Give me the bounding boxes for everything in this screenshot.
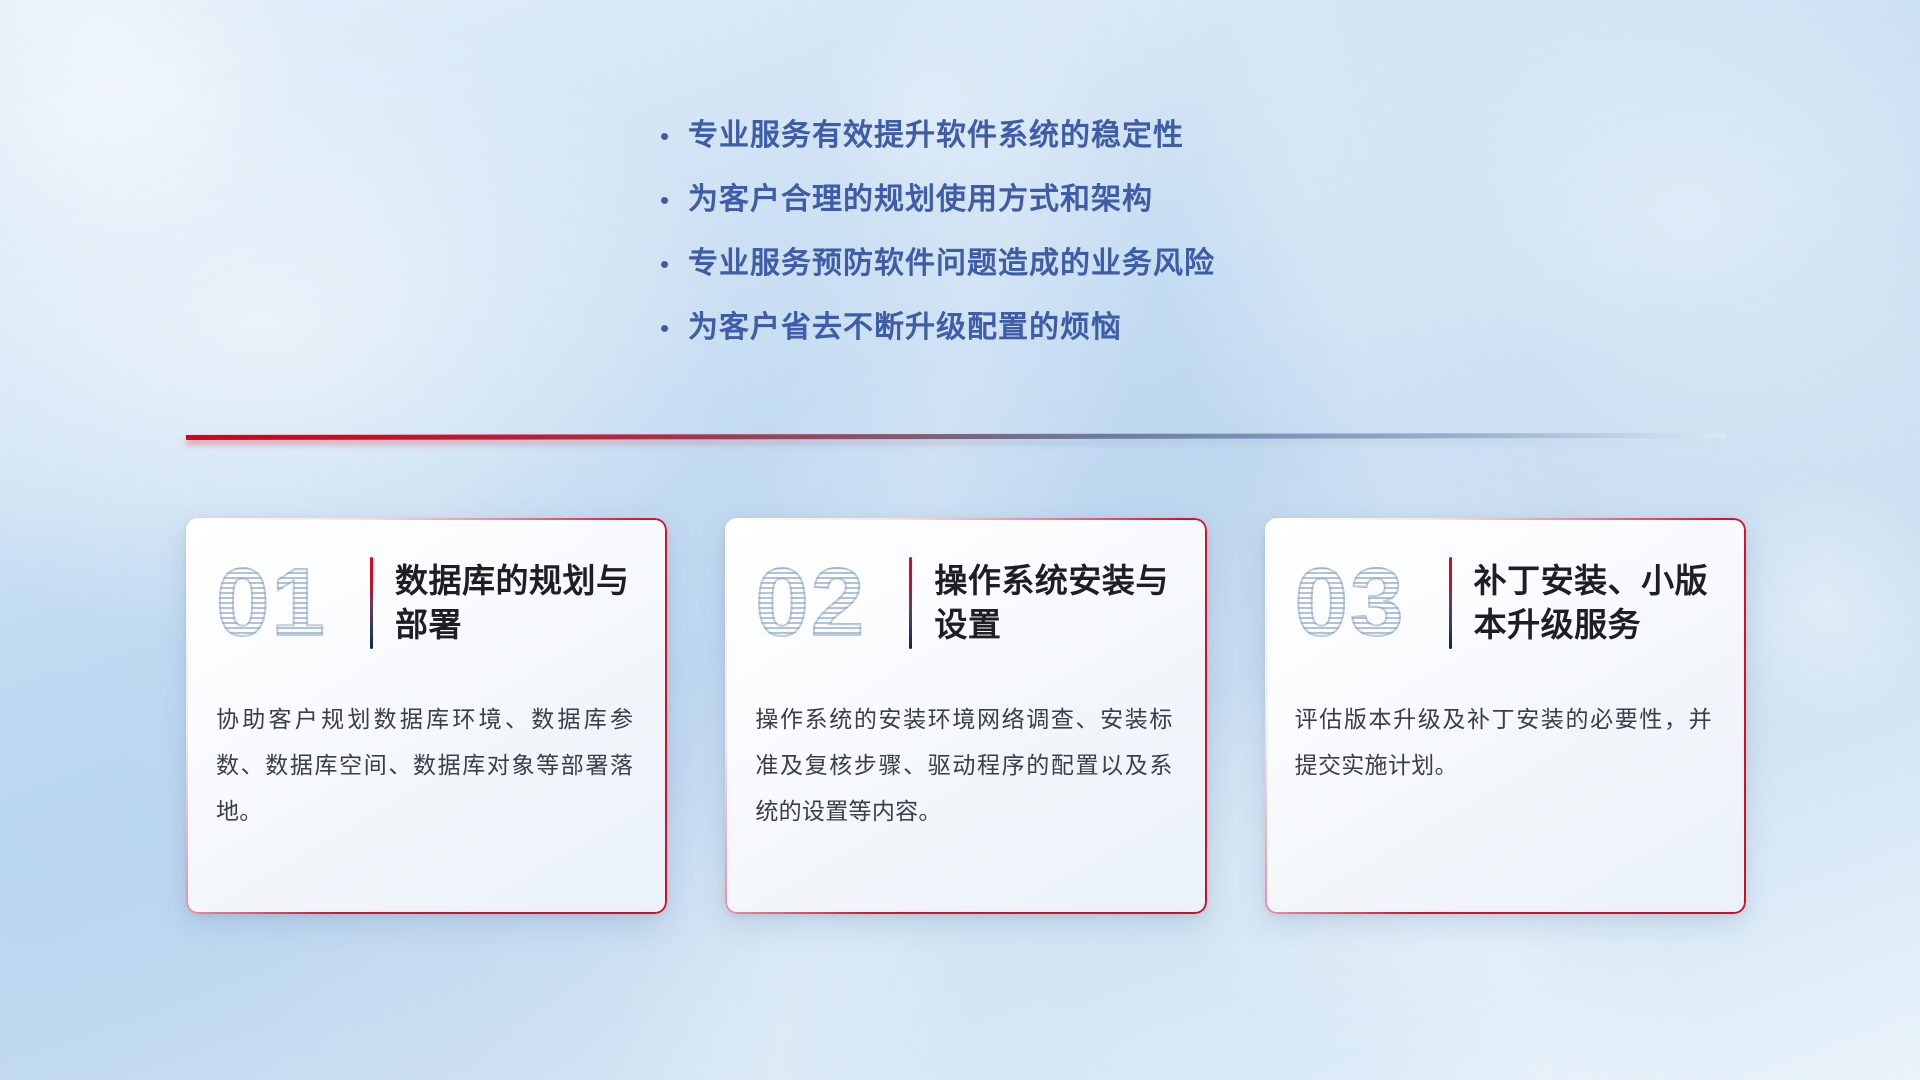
slide-canvas: • 专业服务有效提升软件系统的稳定性 • 为客户合理的规划使用方式和架构 • 专… — [0, 0, 1920, 1080]
card-title: 补丁安装、小版本升级服务 — [1474, 559, 1720, 646]
list-item: • 专业服务有效提升软件系统的稳定性 — [660, 110, 1215, 174]
list-item: • 为客户合理的规划使用方式和架构 — [660, 174, 1215, 238]
card-accent-divider — [1449, 557, 1452, 649]
card-number-watermark: 03 — [1295, 547, 1443, 659]
divider-glow — [186, 439, 1726, 445]
card-accent-divider — [909, 557, 912, 649]
card-accent-divider — [370, 557, 373, 649]
card-title: 数据库的规划与部署 — [395, 559, 641, 646]
bullet-dot-icon: • — [660, 315, 688, 341]
list-item: • 为客户省去不断升级配置的烦恼 — [660, 302, 1215, 366]
card-header: 01 数据库的规划与部署 — [186, 518, 667, 688]
list-item: • 专业服务预防软件问题造成的业务风险 — [660, 238, 1215, 302]
service-card-03[interactable]: 03 补丁安装、小版本升级服务 评估版本升级及补丁安装的必要性，并提交实施计划。 — [1265, 518, 1746, 914]
bullet-dot-icon: • — [660, 251, 688, 277]
service-card-02[interactable]: 02 操作系统安装与设置 操作系统的安装环境网络调查、安装标准及复核步骤、驱动程… — [725, 518, 1206, 914]
card-title: 操作系统安装与设置 — [934, 559, 1180, 646]
card-body-text: 评估版本升级及补丁安装的必要性，并提交实施计划。 — [1265, 688, 1746, 788]
section-divider — [186, 428, 1726, 448]
bullet-text: 为客户省去不断升级配置的烦恼 — [688, 302, 1122, 346]
card-header: 02 操作系统安装与设置 — [725, 518, 1206, 688]
benefits-bullet-list: • 专业服务有效提升软件系统的稳定性 • 为客户合理的规划使用方式和架构 • 专… — [660, 110, 1215, 366]
bullet-text: 专业服务有效提升软件系统的稳定性 — [688, 110, 1184, 154]
card-body-text: 操作系统的安装环境网络调查、安装标准及复核步骤、驱动程序的配置以及系统的设置等内… — [725, 688, 1206, 834]
service-card-list: 01 数据库的规划与部署 协助客户规划数据库环境、数据库参数、数据库空间、数据库… — [186, 518, 1746, 914]
card-number-watermark: 02 — [755, 547, 903, 659]
bullet-text: 为客户合理的规划使用方式和架构 — [688, 174, 1153, 218]
bullet-text: 专业服务预防软件问题造成的业务风险 — [688, 238, 1215, 282]
card-header: 03 补丁安装、小版本升级服务 — [1265, 518, 1746, 688]
card-body-text: 协助客户规划数据库环境、数据库参数、数据库空间、数据库对象等部署落地。 — [186, 688, 667, 834]
bullet-dot-icon: • — [660, 123, 688, 149]
bullet-dot-icon: • — [660, 187, 688, 213]
service-card-01[interactable]: 01 数据库的规划与部署 协助客户规划数据库环境、数据库参数、数据库空间、数据库… — [186, 518, 667, 914]
card-number-watermark: 01 — [216, 547, 364, 659]
